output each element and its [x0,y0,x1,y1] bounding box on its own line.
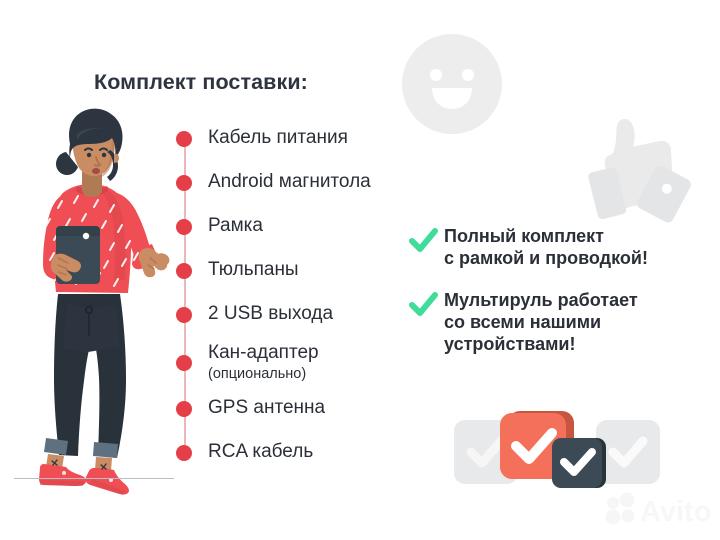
checkbox-cards-icon [452,398,662,500]
pointing-hand [139,248,170,277]
thumbs-up-icon [568,108,692,226]
list-item-label: Android магнитола [208,171,371,192]
coral-card [500,411,574,479]
light-card-left [454,420,518,484]
page-title: Комплект поставки: [94,70,308,95]
benefit-item: Мультируль работает со всеми нашими устр… [408,290,708,356]
bullet-icon [176,445,192,461]
list-item: GPS антенна [176,398,426,419]
check-icon [408,226,438,256]
benefits-list: Полный комплект с рамкой и проводкой! Му… [408,226,708,356]
list-item-label: Рамка [208,215,263,236]
list-item: Кан-адаптер (опционально) [176,343,426,383]
bullet-icon [176,355,192,371]
list-item-label: GPS антенна [208,397,325,418]
list-item-label: Тюльпаны [208,259,299,280]
benefit-label: Мультируль работает со всеми нашими устр… [444,290,638,356]
list-item-sublabel: (опционально) [208,366,319,383]
bullet-icon [176,219,192,235]
list-item-label: 2 USB выхода [208,303,333,324]
dark-card [552,438,606,488]
check-icon [408,290,438,320]
list-item: RCA кабель [176,442,426,463]
list-item: 2 USB выхода [176,304,426,325]
list-item: Кабель питания [176,128,426,149]
ground-line [14,478,174,479]
benefit-label: Полный комплект с рамкой и проводкой! [444,226,648,270]
light-card-right [596,420,660,484]
list-item: Android магнитола [176,172,426,193]
list-item: Тюльпаны [176,260,426,281]
bullet-icon [176,307,192,323]
smiley-face-icon [396,28,508,140]
list-item-label: Кан-адаптер [208,342,319,363]
avito-wordmark: Avito [640,496,711,528]
bullet-icon [176,401,192,417]
bullet-icon [176,263,192,279]
bullet-icon [176,131,192,147]
bullet-icon [176,175,192,191]
poster-canvas: Avito [0,0,720,540]
benefit-item: Полный комплект с рамкой и проводкой! [408,226,708,270]
list-item-label: RCA кабель [208,441,313,462]
woman-pointing-with-tablet-illustration [6,108,186,508]
list-item: Рамка [176,216,426,237]
avito-logo-icon: Avito [604,490,714,530]
list-item-label: Кабель питания [208,127,348,148]
